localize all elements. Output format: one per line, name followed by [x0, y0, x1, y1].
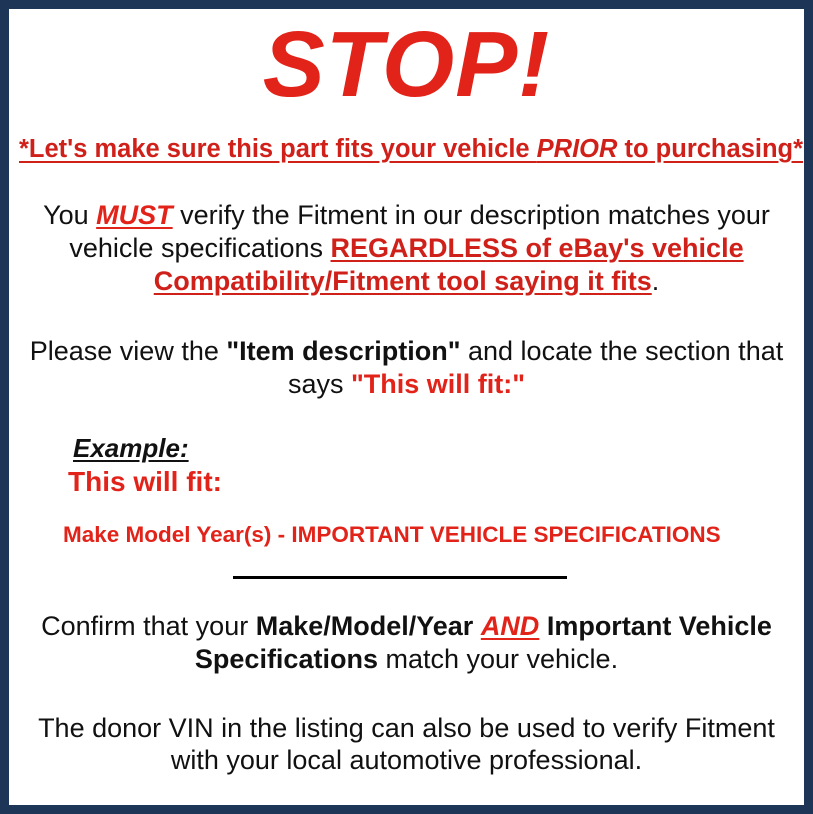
confirm-paragraph: Confirm that your Make/Model/Year AND Im…	[19, 610, 794, 676]
and-emphasis: AND	[481, 611, 540, 641]
locate-paragraph: Please view the "Item description" and l…	[19, 335, 794, 401]
must-emphasis: MUST	[96, 200, 173, 230]
verify-text-3: .	[652, 266, 660, 296]
confirm-text-1: Confirm that your	[41, 611, 256, 641]
example-label-row: Example:	[65, 434, 794, 463]
verify-paragraph: You MUST verify the Fitment in our descr…	[19, 199, 794, 298]
example-block: Example: This will fit: Make Model Year(…	[19, 434, 794, 548]
confirm-text-2: match your vehicle.	[378, 644, 618, 674]
example-fits-detail: Make Model Year(s) - IMPORTANT VEHICLE S…	[63, 522, 794, 548]
this-will-fit-emphasis: "This will fit:"	[351, 369, 525, 399]
notice-content: STOP! *Let's make sure this part fits yo…	[9, 18, 804, 814]
tagline-emphasis: PRIOR	[537, 135, 618, 163]
closing-thanks: Thank you for confirming Fitment!	[19, 803, 794, 814]
example-fits-label: This will fit:	[68, 466, 794, 498]
section-divider	[233, 576, 567, 579]
item-description-emphasis: "Item description"	[226, 336, 460, 366]
make-model-year-emphasis: Make/Model/Year	[256, 611, 481, 641]
fitment-notice-card: STOP! *Let's make sure this part fits yo…	[0, 0, 813, 814]
page-title: STOP!	[19, 18, 794, 111]
divider-wrap	[19, 576, 794, 580]
locate-text-1: Please view the	[30, 336, 227, 366]
tagline-tail: to purchasing*	[617, 135, 803, 163]
tagline: *Let's make sure this part fits your veh…	[19, 135, 794, 164]
verify-text-1: You	[43, 200, 96, 230]
example-label: Example:	[73, 434, 189, 463]
tagline-lead: *Let's make sure this part fits your veh…	[19, 135, 537, 163]
vin-paragraph: The donor VIN in the listing can also be…	[19, 712, 794, 778]
